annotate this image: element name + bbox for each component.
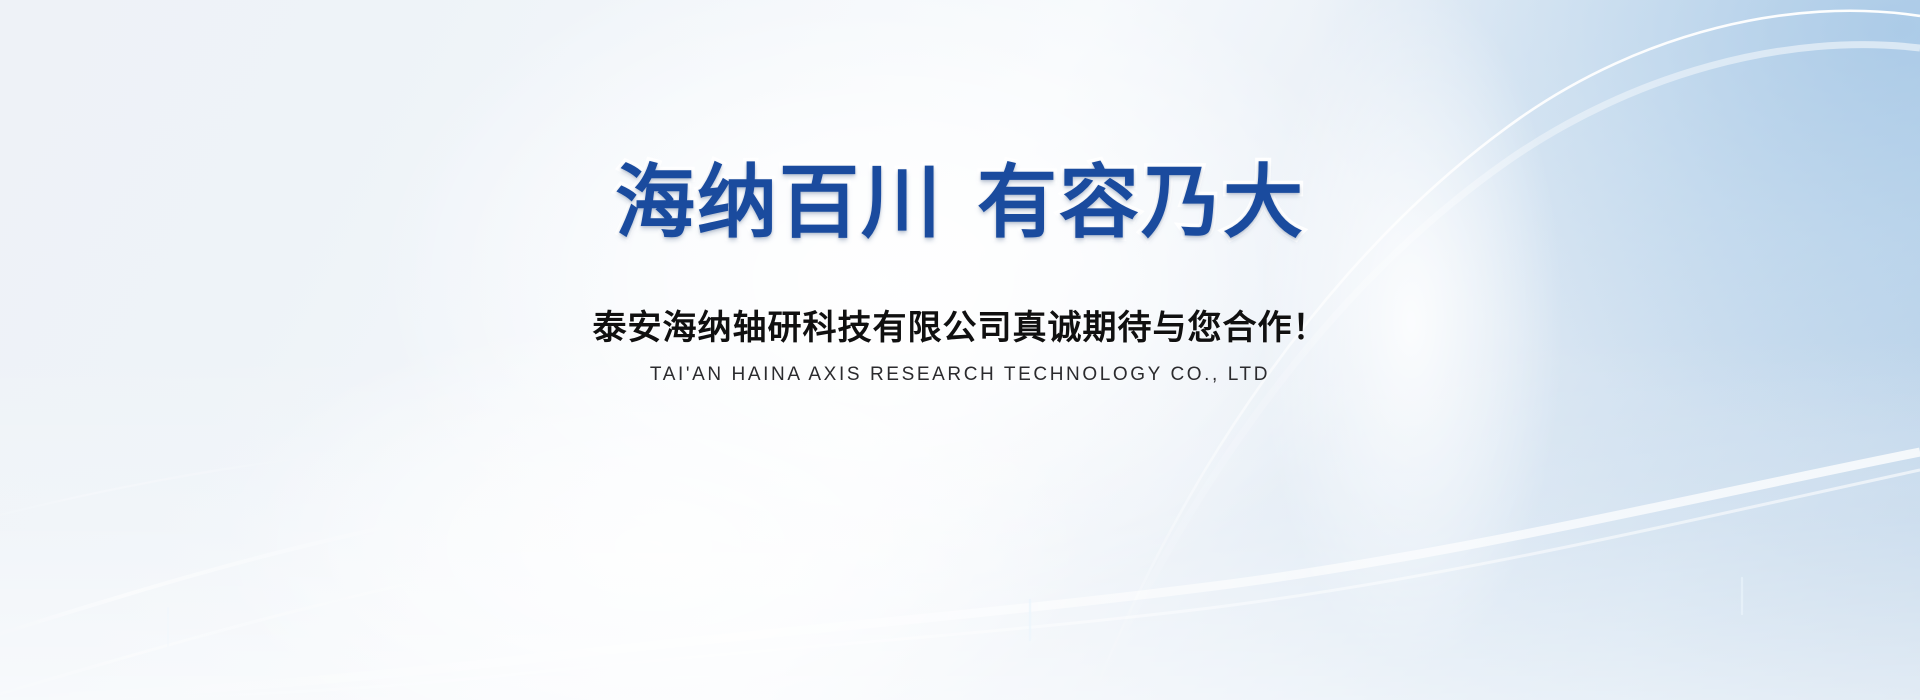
banner-subtitle-chinese: 泰安海纳轴研科技有限公司真诚期待与您合作！ (0, 308, 1920, 349)
banner-headline: 海纳百川有容乃大 (0, 163, 1920, 243)
banner-subtitle-english: TAI'AN HAINA AXIS RESEARCH TECHNOLOGY CO… (0, 364, 1920, 387)
banner-content: 海纳百川有容乃大 泰安海纳轴研科技有限公司真诚期待与您合作！ TAI'AN HA… (0, 0, 1920, 700)
headline-part-2: 有容乃大 (977, 158, 1305, 247)
headline-part-1: 海纳百川 (615, 158, 943, 247)
hero-banner: 海纳百川有容乃大 泰安海纳轴研科技有限公司真诚期待与您合作！ TAI'AN HA… (0, 0, 1920, 700)
